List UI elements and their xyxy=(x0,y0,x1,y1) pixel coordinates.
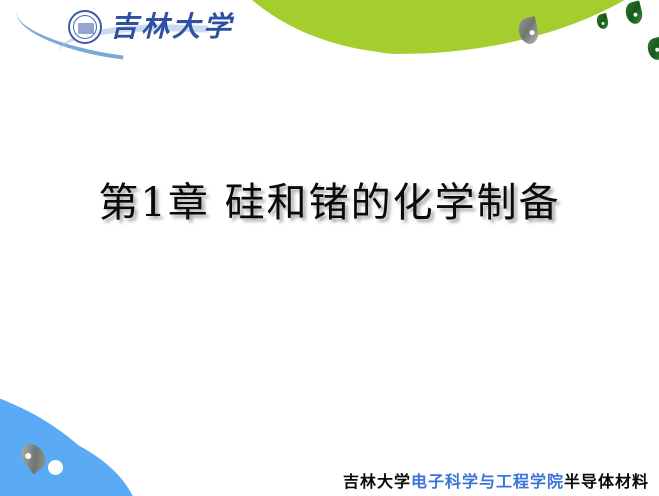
drop-highlight-icon xyxy=(529,30,535,36)
drop-highlight-icon xyxy=(633,12,638,17)
footer-college: 电子科学与工程学院 xyxy=(411,472,564,491)
water-drop-icon xyxy=(624,0,645,25)
drop-dot-icon xyxy=(48,460,63,475)
drop-highlight-icon xyxy=(601,22,605,26)
water-drop-icon xyxy=(595,13,609,30)
jilin-university-seal-icon xyxy=(68,10,102,44)
footer-university: 吉林大学 xyxy=(343,472,411,491)
presentation-slide: 吉林大学 第1章 硅和锗的化学制备 吉林大学电子科学与工程学院半导体材料 xyxy=(0,0,659,496)
drop-highlight-icon xyxy=(655,47,659,52)
university-logo: 吉林大学 xyxy=(14,4,229,54)
water-drop-icon xyxy=(646,36,659,61)
drop-dot-icon xyxy=(616,12,625,25)
footer-course: 半导体材料 xyxy=(564,472,649,491)
drop-highlight-icon xyxy=(24,452,32,460)
page-title: 第1章 硅和锗的化学制备 xyxy=(0,170,659,228)
slide-footer: 吉林大学电子科学与工程学院半导体材料 xyxy=(343,468,649,492)
logo-wordmark: 吉林大学 xyxy=(110,5,234,49)
